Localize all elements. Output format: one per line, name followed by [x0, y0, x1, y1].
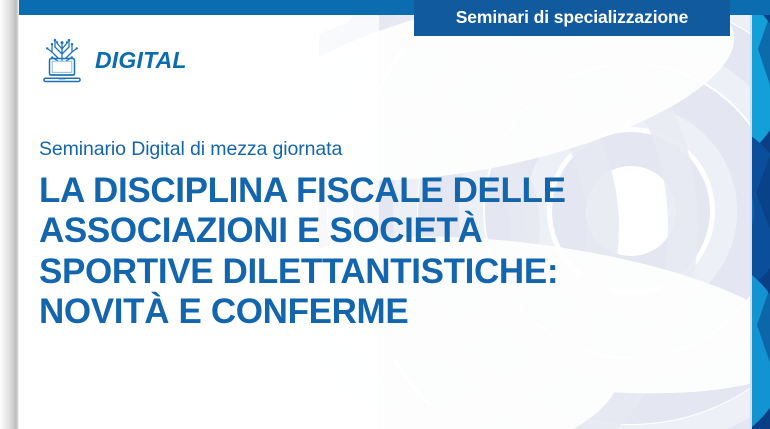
title-line-2: ASSOCIAZIONI E SOCIETÀ: [39, 211, 659, 251]
seminar-promo-card: Seminari di specializzazione: [0, 0, 770, 429]
page-title: LA DISCIPLINA FISCALE DELLE ASSOCIAZIONI…: [39, 171, 659, 333]
left-edge-shadow: [0, 0, 19, 429]
headline-block: Seminario Digital di mezza giornata LA D…: [39, 138, 659, 332]
title-line-3: SPORTIVE DILETTANTISTICHE:: [39, 252, 659, 292]
digital-logo: DIGITAL: [40, 36, 187, 84]
category-banner-label: Seminari di specializzazione: [456, 9, 689, 27]
title-line-4: NOVITÀ E CONFERME: [39, 292, 659, 332]
right-decorative-strip: [750, 15, 770, 429]
seminar-kicker: Seminario Digital di mezza giornata: [39, 138, 659, 162]
laptop-circuit-icon: [40, 36, 84, 84]
title-line-1: LA DISCIPLINA FISCALE DELLE: [39, 171, 659, 211]
digital-wordmark: DIGITAL: [95, 49, 187, 72]
category-banner: Seminari di specializzazione: [414, 0, 730, 36]
